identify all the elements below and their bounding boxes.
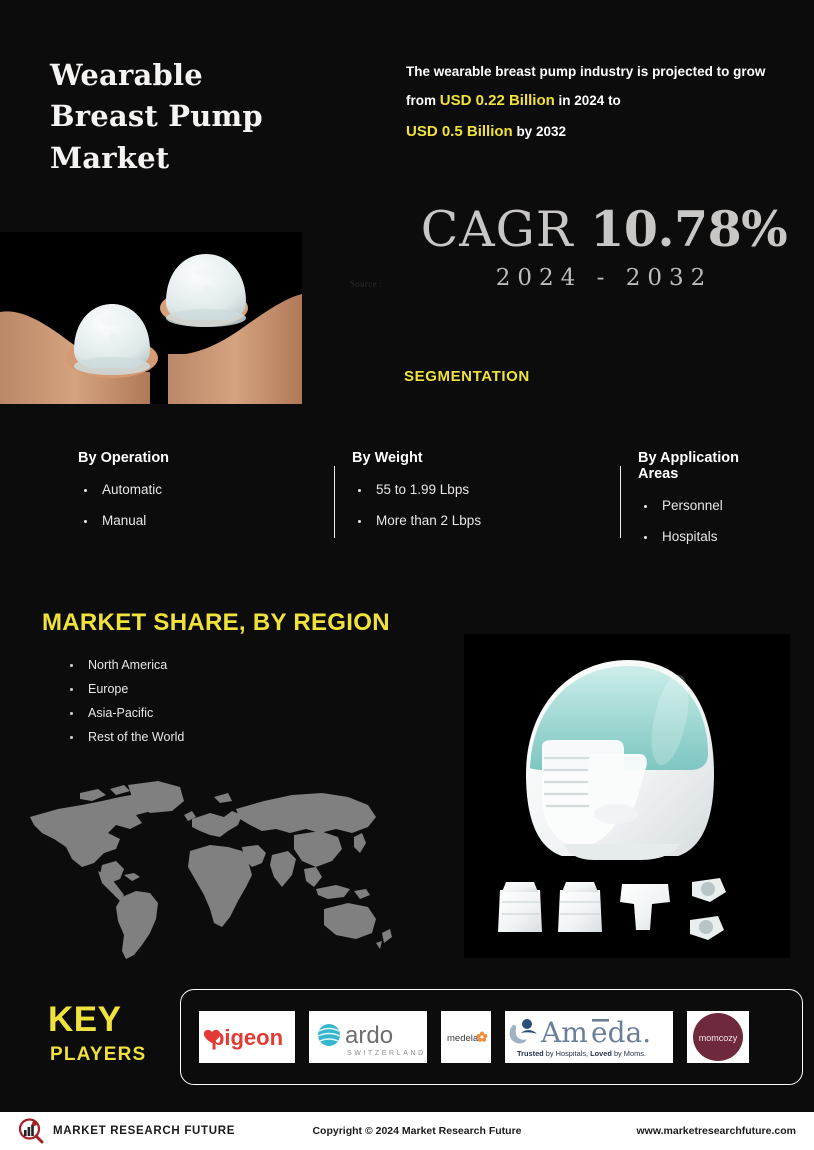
list-item: Hospitals — [638, 529, 762, 544]
cagr-block: CAGR 10.78% 2024 - 2032 Source : — [404, 205, 804, 291]
list-item: Automatic — [78, 482, 336, 497]
market-share-heading: MARKET SHARE, BY REGION — [42, 609, 390, 637]
key-players-players-label: PLAYERS — [50, 1045, 146, 1064]
summary-from-label: from — [406, 93, 440, 108]
summary-line-2: from USD 0.22 Billion in 2024 to — [406, 86, 800, 117]
svg-text:Am: Am — [540, 1016, 588, 1049]
world-map — [24, 775, 424, 970]
value-2032: USD 0.5 Billion — [406, 123, 513, 140]
world-map-silhouette — [24, 775, 424, 970]
ardo-logo-icon: ardo SWITZERLAND — [309, 1011, 427, 1063]
segment-list-application-areas: Personnel Hospitals — [638, 498, 762, 544]
list-item: More than 2 Lbps — [352, 513, 622, 528]
list-item: Asia-Pacific — [66, 706, 184, 720]
market-summary-text: The wearable breast pump industry is pro… — [406, 58, 800, 148]
logo-medela: medela — [441, 1011, 491, 1063]
momcozy-logo-icon: momcozy — [687, 1011, 749, 1063]
logo-ameda: Am eda. Trusted by Hospitals, Loved by M… — [505, 1011, 673, 1063]
segment-heading-application-areas: By Application Areas — [638, 450, 762, 482]
cagr-headline: CAGR 10.78% — [404, 205, 804, 254]
list-item: North America — [66, 658, 184, 672]
svg-text:ardo: ardo — [345, 1022, 393, 1049]
footer-brand: MARKET RESEARCH FUTURE — [18, 1118, 308, 1144]
value-2024: USD 0.22 Billion — [440, 92, 555, 109]
segment-list-weight: 55 to 1.99 Lbps More than 2 Lbps — [352, 482, 622, 528]
page-title-line-2: Breast Pump — [50, 96, 350, 137]
summary-line-3: USD 0.5 Billion by 2032 — [406, 117, 800, 148]
summary-line-1: The wearable breast pump industry is pro… — [406, 58, 800, 86]
segmentation-column-application-areas: By Application Areas Personnel Hospitals — [622, 450, 762, 560]
svg-text:SWITZERLAND: SWITZERLAND — [347, 1050, 426, 1057]
segment-list-operation: Automatic Manual — [78, 482, 336, 528]
footer-brand-text: MARKET RESEARCH FUTURE — [53, 1125, 235, 1137]
segmentation-column-operation: By Operation Automatic Manual — [62, 450, 336, 560]
source-watermark: Source : — [350, 279, 382, 289]
key-players-key-label: KEY — [48, 1002, 121, 1037]
footer-url[interactable]: www.marketresearchfuture.com — [526, 1125, 796, 1137]
svg-text:momcozy: momcozy — [699, 1033, 738, 1043]
hands-holding-pumps-image — [0, 232, 302, 404]
footer: MARKET RESEARCH FUTURE Copyright © 2024 … — [0, 1112, 814, 1150]
cagr-value: 10.78% — [590, 200, 787, 258]
svg-text:pigeon: pigeon — [211, 1025, 283, 1050]
region-list: North America Europe Asia-Pacific Rest o… — [66, 658, 184, 754]
summary-by-2032-label: by 2032 — [513, 124, 566, 139]
svg-text:medela: medela — [447, 1033, 479, 1044]
breast-pump-product-image: MomMed — [464, 634, 790, 958]
segmentation-columns: By Operation Automatic Manual By Weight … — [62, 450, 762, 560]
page-title: Wearable Breast Pump Market — [50, 55, 350, 179]
segmentation-heading: SEGMENTATION — [404, 368, 530, 385]
segment-heading-weight: By Weight — [352, 450, 622, 466]
logo-momcozy: momcozy — [687, 1011, 749, 1063]
list-item: 55 to 1.99 Lbps — [352, 482, 622, 497]
cagr-period: 2024 - 2032 — [404, 265, 804, 291]
footer-copyright: Copyright © 2024 Market Research Future — [308, 1125, 526, 1137]
list-item: Rest of the World — [66, 730, 184, 744]
summary-in-2024-label: in 2024 to — [555, 93, 621, 108]
segmentation-column-weight: By Weight 55 to 1.99 Lbps More than 2 Lb… — [336, 450, 622, 560]
segment-heading-operation: By Operation — [78, 450, 336, 466]
page-title-line-1: Wearable — [50, 55, 350, 96]
hands-illustration — [0, 232, 302, 404]
market-research-future-logo-icon — [18, 1118, 44, 1144]
key-players-logo-box: pigeon ardo SWITZERLAND medela — [180, 989, 803, 1085]
pigeon-logo-icon: pigeon — [199, 1011, 295, 1063]
infographic-page: Wearable Breast Pump Market — [0, 0, 814, 1150]
logo-ardo: ardo SWITZERLAND — [309, 1011, 427, 1063]
product-illustration: MomMed — [464, 634, 790, 958]
cagr-label: CAGR — [421, 201, 591, 258]
logo-pigeon: pigeon — [199, 1011, 295, 1063]
svg-text:Trusted by Hospitals, Loved by: Trusted by Hospitals, Loved by Moms. — [517, 1049, 646, 1058]
list-item: Manual — [78, 513, 336, 528]
medela-logo-icon: medela — [441, 1011, 491, 1063]
page-title-line-3: Market — [50, 138, 350, 179]
list-item: Personnel — [638, 498, 762, 513]
ameda-logo-icon: Am eda. Trusted by Hospitals, Loved by M… — [505, 1011, 673, 1063]
list-item: Europe — [66, 682, 184, 696]
